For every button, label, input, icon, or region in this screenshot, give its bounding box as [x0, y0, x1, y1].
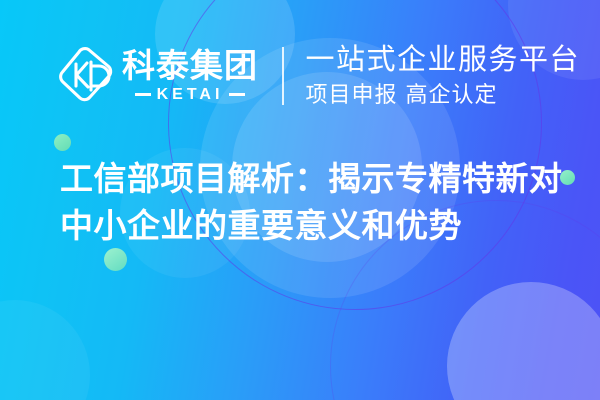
headline-line-1: 工信部项目解析：揭示专精特新对	[60, 156, 580, 203]
brand-name-cn: 科泰集团	[122, 49, 258, 84]
headline-block: 工信部项目解析：揭示专精特新对 中小企业的重要意义和优势	[60, 156, 580, 250]
brand-rule-right	[229, 93, 245, 96]
ketai-logo-icon	[58, 45, 116, 107]
brand-text: 科泰集团 KETAI	[122, 49, 258, 103]
decorative-circle-left-lower	[0, 300, 90, 400]
brand-rule-left	[135, 93, 151, 96]
tagline-block: 一站式企业服务平台 项目申报 高企认定	[306, 43, 581, 110]
decorative-circle-right-bottom	[447, 282, 600, 400]
headline-line-2: 中小企业的重要意义和优势	[60, 203, 580, 250]
tagline-primary: 一站式企业服务平台	[306, 43, 581, 76]
header-divider	[282, 47, 284, 105]
brand-name-en-row: KETAI	[135, 87, 246, 103]
brand-name-en: KETAI	[157, 87, 224, 103]
promo-banner: 科泰集团 KETAI 一站式企业服务平台 项目申报 高企认定 工信部项目解析：揭…	[0, 0, 600, 400]
decorative-dot-green-upper	[54, 134, 71, 151]
decorative-dot-green-lower	[104, 248, 127, 271]
brand-lockup: 科泰集团 KETAI	[58, 45, 258, 107]
tagline-secondary: 项目申报 高企认定	[306, 82, 581, 110]
banner-header: 科泰集团 KETAI 一站式企业服务平台 项目申报 高企认定	[0, 38, 600, 114]
